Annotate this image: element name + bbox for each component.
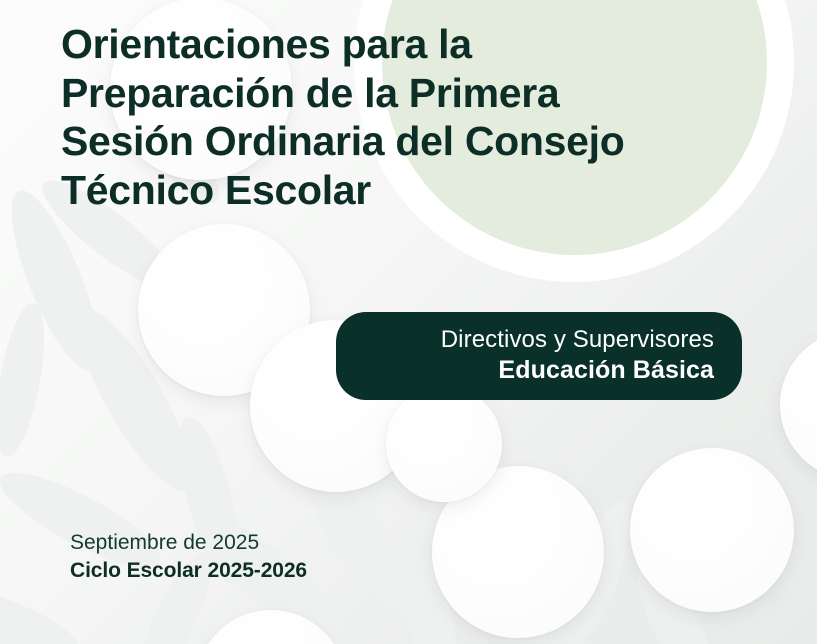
- decor-circle-4: [432, 466, 604, 638]
- decor-circle-8: [196, 610, 346, 644]
- decor-circle-6: [780, 330, 817, 480]
- audience-badge-line2: Educación Básica: [336, 355, 714, 386]
- audience-badge: Directivos y Supervisores Educación Bási…: [336, 312, 742, 400]
- audience-badge-line1: Directivos y Supervisores: [336, 325, 714, 355]
- cover-footer: Septiembre de 2025 Ciclo Escolar 2025-20…: [70, 529, 307, 585]
- publication-date: Septiembre de 2025: [70, 529, 307, 557]
- page-title: Orientaciones para la Preparación de la …: [61, 20, 721, 214]
- document-cover: Orientaciones para la Preparación de la …: [0, 0, 817, 644]
- school-cycle: Ciclo Escolar 2025-2026: [70, 557, 307, 585]
- decor-circle-7: [386, 386, 502, 502]
- decor-circle-5: [630, 448, 794, 612]
- decor-circle-2: [138, 224, 310, 396]
